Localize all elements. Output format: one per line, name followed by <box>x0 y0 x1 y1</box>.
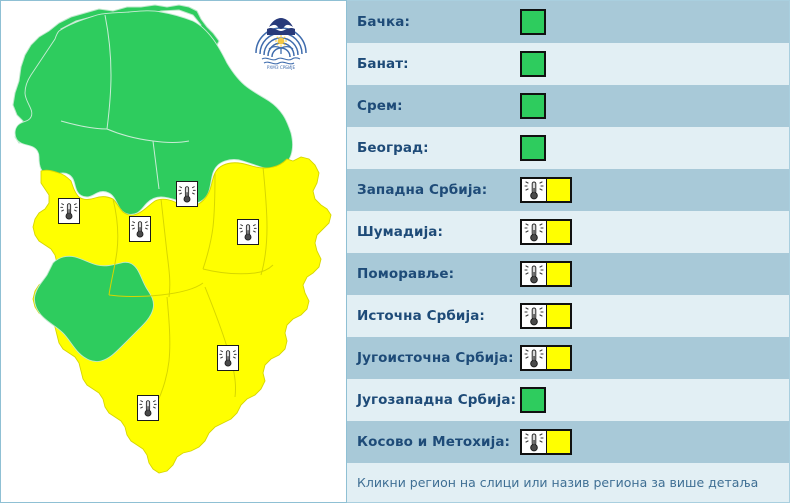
thermometer-icon <box>520 177 546 203</box>
severity-badge-beograd[interactable] <box>520 135 546 161</box>
region-name-sumadija[interactable]: Шумадија: <box>357 224 520 240</box>
region-name-backa[interactable]: Бачка: <box>357 14 520 30</box>
region-row-srem[interactable]: Срем: <box>347 85 789 127</box>
map-marker-istocna-srbija[interactable] <box>237 219 259 245</box>
severity-square-yellow <box>546 177 572 203</box>
region-row-jugozapadna-srbija[interactable]: Југозападна Србија: <box>347 379 789 421</box>
serbia-map[interactable] <box>1 1 346 502</box>
map-marker-sumadija[interactable] <box>129 216 151 242</box>
severity-square-green <box>520 93 546 119</box>
footer-hint-text: Кликни регион на слици или назив региона… <box>357 475 758 490</box>
region-row-beograd[interactable]: Београд: <box>347 127 789 169</box>
region-row-zapadna-srbija[interactable]: Западна Србија: <box>347 169 789 211</box>
severity-badge-jugoistocna-srbija[interactable] <box>520 345 572 371</box>
region-row-kosovo-i-metohija[interactable]: Косово и Метохија: <box>347 421 789 463</box>
region-name-jugozapadna-srbija[interactable]: Југозападна Србија: <box>357 392 520 408</box>
region-name-zapadna-srbija[interactable]: Западна Србија: <box>357 182 520 198</box>
region-list-panel: Бачка:Банат:Срем:Београд:Западна Србија:… <box>347 0 790 503</box>
severity-square-yellow <box>546 261 572 287</box>
severity-square-yellow <box>546 345 572 371</box>
region-row-backa[interactable]: Бачка: <box>347 1 789 43</box>
severity-square-yellow <box>546 303 572 329</box>
region-name-beograd[interactable]: Београд: <box>357 140 520 156</box>
region-name-kosovo-i-metohija[interactable]: Косово и Метохија: <box>357 434 520 450</box>
region-row-jugoistocna-srbija[interactable]: Југоисточна Србија: <box>347 337 789 379</box>
region-row-sumadija[interactable]: Шумадија: <box>347 211 789 253</box>
thermometer-icon <box>520 219 546 245</box>
thermometer-icon <box>520 345 546 371</box>
region-row-banat[interactable]: Банат: <box>347 43 789 85</box>
severity-badge-istocna-srbija[interactable] <box>520 303 572 329</box>
region-name-istocna-srbija[interactable]: Источна Србија: <box>357 308 520 324</box>
list-footer: Кликни регион на слици или назив региона… <box>347 463 789 502</box>
severity-badge-kosovo-i-metohija[interactable] <box>520 429 572 455</box>
region-name-pomoravlje[interactable]: Поморавље: <box>357 266 520 282</box>
severity-square-yellow <box>546 219 572 245</box>
region-name-jugoistocna-srbija[interactable]: Југоисточна Србија: <box>357 350 520 366</box>
map-marker-pomoravlje[interactable] <box>176 181 198 207</box>
meteo-alarm-page: РХМЗ СРБИЈЕ Бачка:Банат:Срем:Београд:Зап… <box>0 0 790 503</box>
severity-badge-zapadna-srbija[interactable] <box>520 177 572 203</box>
severity-badge-banat[interactable] <box>520 51 546 77</box>
thermometer-icon <box>520 303 546 329</box>
map-marker-jugoistocna-srbija[interactable] <box>217 345 239 371</box>
severity-square-green <box>520 9 546 35</box>
severity-badge-sumadija[interactable] <box>520 219 572 245</box>
map-marker-zapadna-srbija[interactable] <box>58 198 80 224</box>
thermometer-icon <box>520 261 546 287</box>
severity-badge-backa[interactable] <box>520 9 546 35</box>
severity-square-green <box>520 387 546 413</box>
severity-square-yellow <box>546 429 572 455</box>
thermometer-icon <box>520 429 546 455</box>
map-panel: РХМЗ СРБИЈЕ <box>0 0 347 503</box>
severity-badge-jugozapadna-srbija[interactable] <box>520 387 546 413</box>
region-rows: Бачка:Банат:Срем:Београд:Западна Србија:… <box>347 1 789 463</box>
region-name-banat[interactable]: Банат: <box>357 56 520 72</box>
region-row-pomoravlje[interactable]: Поморавље: <box>347 253 789 295</box>
severity-badge-srem[interactable] <box>520 93 546 119</box>
map-marker-kosovo-i-metohija[interactable] <box>137 395 159 421</box>
severity-square-green <box>520 135 546 161</box>
region-row-istocna-srbija[interactable]: Источна Србија: <box>347 295 789 337</box>
severity-square-green <box>520 51 546 77</box>
severity-badge-pomoravlje[interactable] <box>520 261 572 287</box>
region-name-srem[interactable]: Срем: <box>357 98 520 114</box>
